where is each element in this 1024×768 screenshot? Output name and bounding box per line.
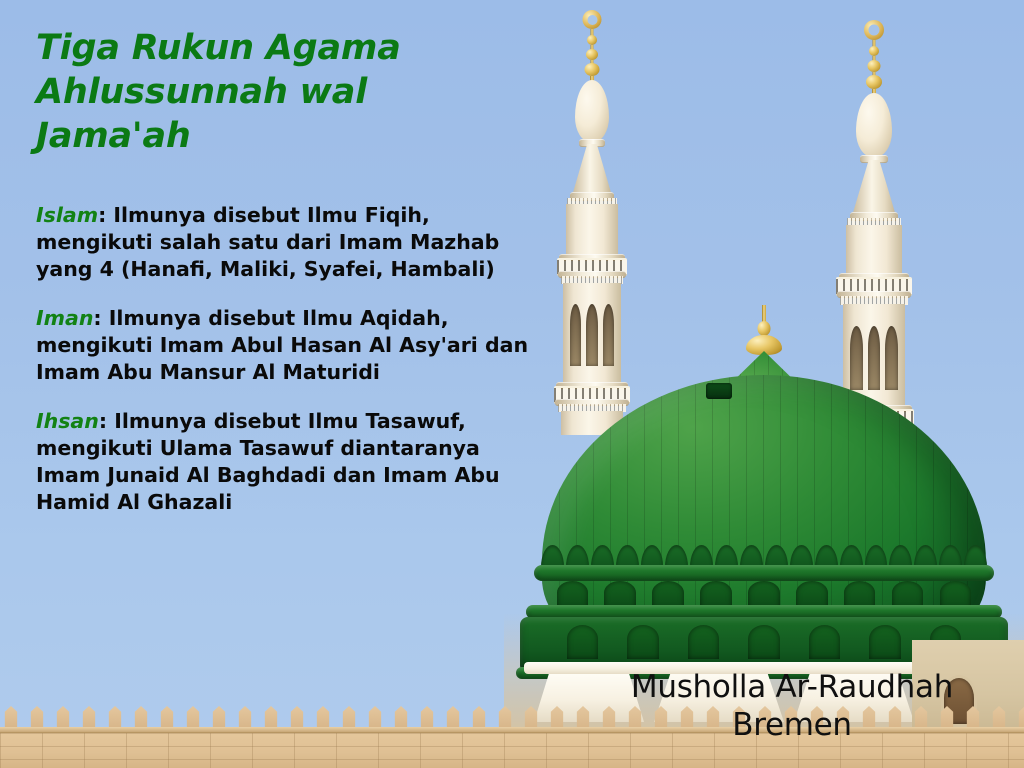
dome-finial-bead — [758, 321, 771, 336]
title-line-3: Jama'ah — [36, 116, 191, 156]
presentation-slide: Tiga Rukun Agama Ahlussunnah wal Jama'ah… — [0, 0, 1024, 768]
point-iman-keyword: Iman — [36, 306, 93, 330]
point-iman: Iman: Ilmunya disebut Ilmu Aqidah, mengi… — [36, 305, 536, 386]
caption-line-2: Bremen — [560, 706, 1024, 744]
title-line-1: Tiga Rukun Agama — [36, 28, 401, 68]
caption-line-1: Musholla Ar-Raudhah — [631, 669, 953, 705]
page-title: Tiga Rukun Agama Ahlussunnah wal Jama'ah — [36, 26, 536, 158]
crescent-finial-icon-right — [864, 20, 884, 40]
title-line-2: Ahlussunnah wal — [36, 72, 367, 112]
crescent-finial-icon — [583, 10, 602, 29]
dome-plaque — [706, 383, 732, 399]
text-column: Tiga Rukun Agama Ahlussunnah wal Jama'ah… — [36, 26, 536, 516]
point-ihsan-keyword: Ihsan — [36, 409, 99, 433]
point-islam-text: Ilmunya disebut Ilmu Fiqih, mengikuti sa… — [36, 203, 499, 281]
dome-arcade-band — [540, 545, 988, 567]
minaret-neck — [572, 144, 612, 196]
point-ihsan-separator: : — [99, 409, 107, 433]
photo-caption: Musholla Ar-Raudhah Bremen — [560, 668, 1024, 744]
minaret-upper-shaft — [566, 204, 618, 258]
mosque-photo — [504, 0, 1024, 768]
point-iman-text: Ilmunya disebut Ilmu Aqidah, mengikuti I… — [36, 306, 528, 384]
minaret-bulb — [575, 80, 609, 142]
point-iman-separator: : — [93, 306, 101, 330]
dome-cornice-upper — [534, 565, 994, 581]
point-ihsan: Ihsan: Ilmunya disebut Ilmu Tasawuf, men… — [36, 408, 536, 516]
point-islam-keyword: Islam — [36, 203, 98, 227]
point-islam: Islam: Ilmunya disebut Ilmu Fiqih, mengi… — [36, 202, 536, 283]
